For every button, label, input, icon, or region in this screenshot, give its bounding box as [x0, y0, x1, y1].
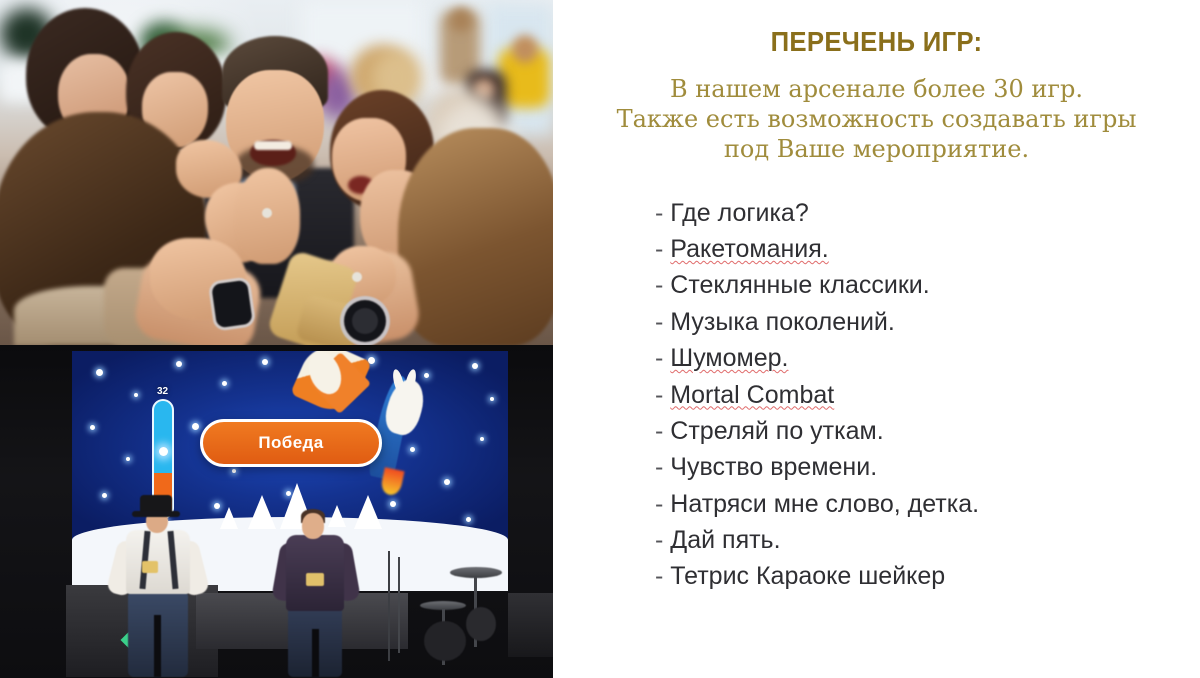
person-teeth	[254, 141, 292, 150]
star	[176, 361, 182, 367]
list-marker: -	[655, 271, 670, 299]
list-marker: -	[655, 199, 670, 227]
score-value-left: 32	[157, 386, 168, 397]
game-name: Дай пять.	[670, 526, 780, 555]
list-marker: -	[655, 490, 670, 518]
wristwatch	[211, 280, 253, 329]
star	[134, 393, 138, 397]
game-name: Стеклянные классики.	[670, 271, 929, 300]
star	[444, 479, 450, 485]
victory-label: Победа	[258, 433, 323, 453]
person-head-foreground	[398, 128, 553, 345]
list-item: - Дай пять.	[655, 522, 1170, 558]
victory-banner: Победа	[200, 419, 382, 467]
intro-line: Также есть возможность создавать игры	[601, 104, 1152, 134]
list-marker: -	[655, 235, 670, 263]
list-item: - Музыка поколений.	[655, 304, 1170, 340]
list-item: - Натряси мне слово, детка.	[655, 486, 1170, 522]
performer-hat-brim	[132, 511, 180, 517]
list-item: - Ракетомания.	[655, 231, 1170, 267]
list-marker: -	[655, 562, 670, 590]
background-person	[512, 35, 538, 63]
list-item: - Где логика?	[655, 195, 1170, 231]
equipment-stand	[398, 557, 400, 653]
list-marker: -	[655, 308, 670, 336]
bunny-icon	[381, 375, 429, 438]
list-item: - Стеклянные классики.	[655, 267, 1170, 303]
star	[466, 517, 471, 522]
list-marker: -	[655, 417, 670, 445]
star	[410, 447, 415, 452]
photo-column: Победа 32 19	[0, 0, 553, 678]
tree-icon	[354, 495, 382, 529]
performer-leg-gap	[154, 615, 161, 677]
list-item: - Шумомер.	[655, 340, 1170, 376]
star	[192, 423, 199, 430]
text-panel: ПЕРЕЧЕНЬ ИГР: В нашем арсенале более 30 …	[553, 0, 1200, 678]
tree-icon	[220, 507, 238, 529]
performer-shirt	[126, 530, 190, 594]
list-marker: -	[655, 453, 670, 481]
star	[96, 369, 103, 376]
list-marker: -	[655, 381, 670, 409]
drum	[466, 607, 496, 641]
game-name: Натряси мне слово, детка.	[670, 490, 979, 519]
amplifier	[508, 593, 553, 657]
star	[90, 425, 95, 430]
performer-prop-card	[306, 573, 324, 586]
performer-leg-gap	[312, 629, 319, 677]
background-person	[450, 8, 472, 32]
star	[480, 437, 484, 441]
star	[390, 501, 396, 507]
tree-icon	[248, 495, 276, 529]
game-name: Шумомер.	[670, 344, 788, 373]
photo-stage-show: Победа 32 19	[0, 345, 553, 678]
intro-line: В нашем арсенале более 30 игр.	[601, 74, 1152, 104]
game-name: Ракетомания.	[670, 235, 828, 264]
page-title: ПЕРЕЧЕНЬ ИГР:	[606, 26, 1146, 58]
list-item: - Mortal Combat	[655, 377, 1170, 413]
rocket-flame-icon	[380, 467, 405, 497]
star	[424, 373, 429, 378]
list-marker: -	[655, 526, 670, 554]
intro-line: под Ваше мероприятие.	[601, 134, 1152, 164]
star	[262, 359, 268, 365]
star	[490, 397, 494, 401]
score-bar-glow	[159, 447, 168, 456]
ring	[352, 272, 362, 282]
list-marker: -	[655, 344, 670, 372]
star	[102, 493, 107, 498]
star	[472, 363, 478, 369]
star	[126, 457, 130, 461]
photo-crowd-laughing	[0, 0, 553, 345]
ring	[262, 208, 272, 218]
game-name: Чувство времени.	[670, 453, 877, 482]
list-item: - Стреляй по уткам.	[655, 413, 1170, 449]
performer-head	[302, 513, 324, 539]
list-item: - Тетрис Караоке шейкер	[655, 558, 1170, 594]
list-item: - Чувство времени.	[655, 449, 1170, 485]
slide: Победа 32 19	[0, 0, 1200, 678]
game-name: Музыка поколений.	[670, 308, 895, 337]
game-name: Стреляй по уткам.	[670, 417, 883, 446]
star	[232, 469, 236, 473]
tree-icon	[328, 505, 346, 527]
wristwatch-face	[352, 308, 378, 334]
microphone-stand	[388, 551, 390, 661]
star	[222, 381, 227, 386]
game-name: Тетрис Караоке шейкер	[670, 562, 945, 591]
drum	[424, 621, 466, 661]
intro-paragraph: В нашем арсенале более 30 игр. Также ест…	[583, 74, 1170, 165]
performer-prop-card	[142, 561, 158, 573]
game-name: Mortal Combat	[670, 381, 834, 410]
games-list: - Где логика?- Ракетомания.- Стеклянные …	[583, 195, 1170, 595]
game-name: Где логика?	[670, 199, 808, 228]
